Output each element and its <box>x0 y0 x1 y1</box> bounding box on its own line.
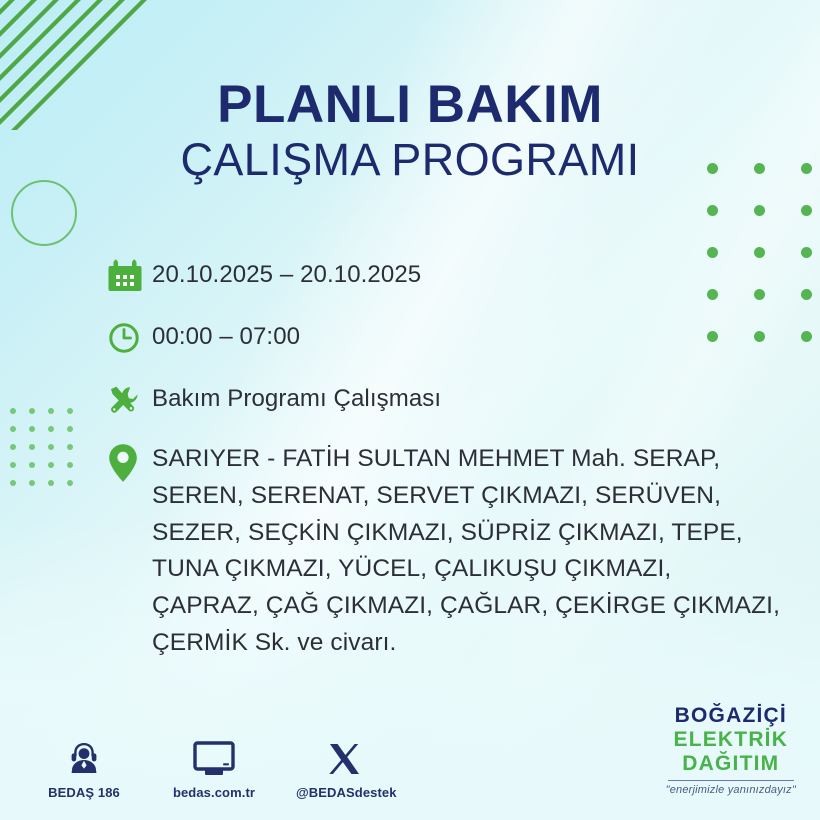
calendar-icon <box>108 255 152 295</box>
logo-line-bogazici: BOĞAZİÇİ <box>666 705 796 726</box>
company-logo: BOĞAZİÇİ ELEKTRİK DAĞITIM "enerjimizle y… <box>666 705 796 796</box>
poster-header: PLANLI BAKIM ÇALIŞMA PROGRAMI <box>0 78 820 185</box>
circle-outline-decoration <box>11 180 77 246</box>
poster-footer: BEDAŞ 186 bedas.com.tr <box>0 690 820 820</box>
info-row-work-type: Bakım Programı Çalışması <box>108 379 780 419</box>
time-range-value: 00:00 – 07:00 <box>152 317 300 353</box>
clock-icon <box>108 317 152 357</box>
logo-divider <box>668 780 794 781</box>
logo-line-elektrik: ELEKTRİK <box>666 729 796 750</box>
x-social-icon <box>296 737 392 777</box>
work-type-value: Bakım Programı Çalışması <box>152 379 441 415</box>
date-range-value: 20.10.2025 – 20.10.2025 <box>152 255 421 291</box>
maintenance-info-list: 20.10.2025 – 20.10.2025 00:00 – 07:00 <box>108 255 780 662</box>
address-value: SARIYER - FATİH SULTAN MEHMET Mah. SERAP… <box>152 441 780 662</box>
tools-icon <box>108 379 152 419</box>
contact-social[interactable]: @BEDASdestek <box>296 737 392 802</box>
contact-website-label: bedas.com.tr <box>173 785 255 800</box>
info-row-time: 00:00 – 07:00 <box>108 317 780 357</box>
planned-maintenance-poster: PLANLI BAKIM ÇALIŞMA PROGRAMI <box>0 0 820 820</box>
monitor-icon <box>166 737 262 777</box>
contact-phone-label: BEDAŞ 186 <box>48 785 120 800</box>
headset-agent-icon <box>36 737 132 777</box>
page-subtitle: ÇALIŞMA PROGRAMI <box>0 135 820 185</box>
logo-line-dagitim: DAĞITIM <box>666 753 796 774</box>
contact-social-label: @BEDASdestek <box>296 785 397 800</box>
location-pin-icon <box>108 441 152 481</box>
contact-website[interactable]: bedas.com.tr <box>166 737 262 802</box>
contact-channels: BEDAŞ 186 bedas.com.tr <box>36 737 392 802</box>
logo-tagline: "enerjimizle yanınızdayız" <box>666 785 796 796</box>
contact-phone[interactable]: BEDAŞ 186 <box>36 737 132 802</box>
info-row-date: 20.10.2025 – 20.10.2025 <box>108 255 780 295</box>
page-title: PLANLI BAKIM <box>0 78 820 131</box>
info-row-address: SARIYER - FATİH SULTAN MEHMET Mah. SERAP… <box>108 441 780 662</box>
dot-grid-left-decoration <box>10 408 90 488</box>
